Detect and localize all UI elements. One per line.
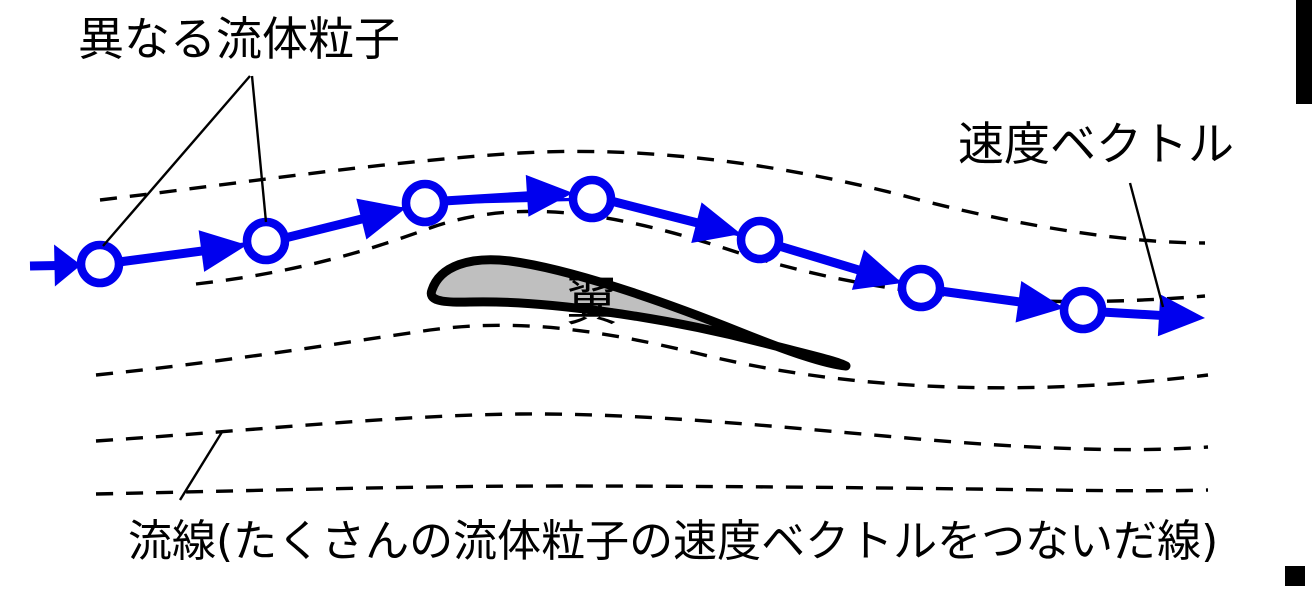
fluid-particle-4 [573,180,611,218]
fluid-particle-7 [1064,291,1102,329]
velocity-arrow-shaft-3 [444,196,531,201]
velocity-arrow-shaft-7 [1102,312,1163,316]
figure-root: 翼 異なる流体粒子 速度ベクトル 流線(たくさんの流体粒子の速度ベクトルをつない… [0,0,1312,593]
label-velocity-vector: 速度ベクトル [958,117,1234,171]
fluid-particle-2 [247,222,285,260]
right-edge-bar [1296,0,1312,104]
fluid-particle-3 [406,184,444,222]
label-different-fluid-particles: 異なる流体粒子 [78,12,400,66]
fluid-particle-6 [902,269,940,307]
flow-diagram-canvas: 翼 異なる流体粒子 速度ベクトル 流線(たくさんの流体粒子の速度ベクトルをつない… [0,0,1312,593]
bottom-right-corner-square [1285,566,1305,586]
airfoil-label: 翼 [566,273,618,333]
velocity-arrow-shaft-8 [30,265,58,266]
fluid-particle-1 [81,245,119,283]
fluid-particle-5 [741,221,779,259]
caption-streamline-definition: 流線(たくさんの流体粒子の速度ベクトルをつないだ線) [128,516,1218,567]
